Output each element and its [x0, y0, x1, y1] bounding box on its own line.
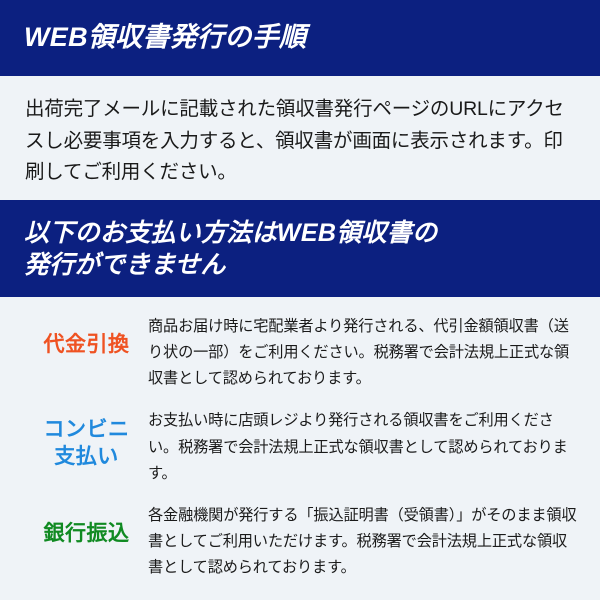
intro-paragraph: 出荷完了メールに記載された領収書発行ページのURLにアクセスし必要事項を入力する…	[25, 94, 576, 189]
payment-method-description-text: お支払い時に店頭レジより発行される領収書をご利用ください。税務署で会計法規上正式…	[148, 408, 578, 486]
payment-method-label: 銀行振込	[25, 500, 148, 548]
intro-section: 出荷完了メールに記載された領収書発行ページのURLにアクセスし必要事項を入力する…	[0, 76, 600, 200]
payment-method-label: コンビニ 支払い	[25, 405, 148, 471]
page-title: WEB領収書発行の手順	[24, 22, 306, 54]
payment-method-row-cash-on-delivery: 代金引換 商品お届け時に宅配業者より発行される、代引金額領収書（送り状の一部）を…	[0, 311, 600, 392]
primary-header-band: WEB領収書発行の手順	[0, 0, 600, 76]
payment-method-description-text: 商品お届け時に宅配業者より発行される、代引金額領収書（送り状の一部）をご利用くだ…	[148, 314, 578, 392]
payment-method-description: 各金融機関が発行する「振込証明書（受領書）」がそのまま領収書としてご利用いただけ…	[148, 500, 578, 581]
payment-method-row-bank-transfer: 銀行振込 各金融機関が発行する「振込証明書（受領書）」がそのまま領収書としてご利…	[0, 500, 600, 581]
payment-method-description: 商品お届け時に宅配業者より発行される、代引金額領収書（送り状の一部）をご利用くだ…	[148, 311, 578, 392]
payment-method-description-text: 各金融機関が発行する「振込証明書（受領書）」がそのまま領収書としてご利用いただけ…	[148, 503, 578, 581]
payment-method-description: お支払い時に店頭レジより発行される領収書をご利用ください。税務署で会計法規上正式…	[148, 405, 578, 486]
notice-header-band: 以下のお支払い方法はWEB領収書の 発行ができません	[0, 200, 600, 297]
payment-method-row-convenience-store: コンビニ 支払い お支払い時に店頭レジより発行される領収書をご利用ください。税務…	[0, 405, 600, 486]
payment-methods-list: 代金引換 商品お届け時に宅配業者より発行される、代引金額領収書（送り状の一部）を…	[0, 297, 600, 581]
notice-title: 以下のお支払い方法はWEB領収書の 発行ができません	[24, 217, 437, 281]
payment-method-label: 代金引換	[25, 311, 148, 359]
receipt-info-page: WEB領収書発行の手順 出荷完了メールに記載された領収書発行ページのURLにアク…	[0, 0, 600, 600]
